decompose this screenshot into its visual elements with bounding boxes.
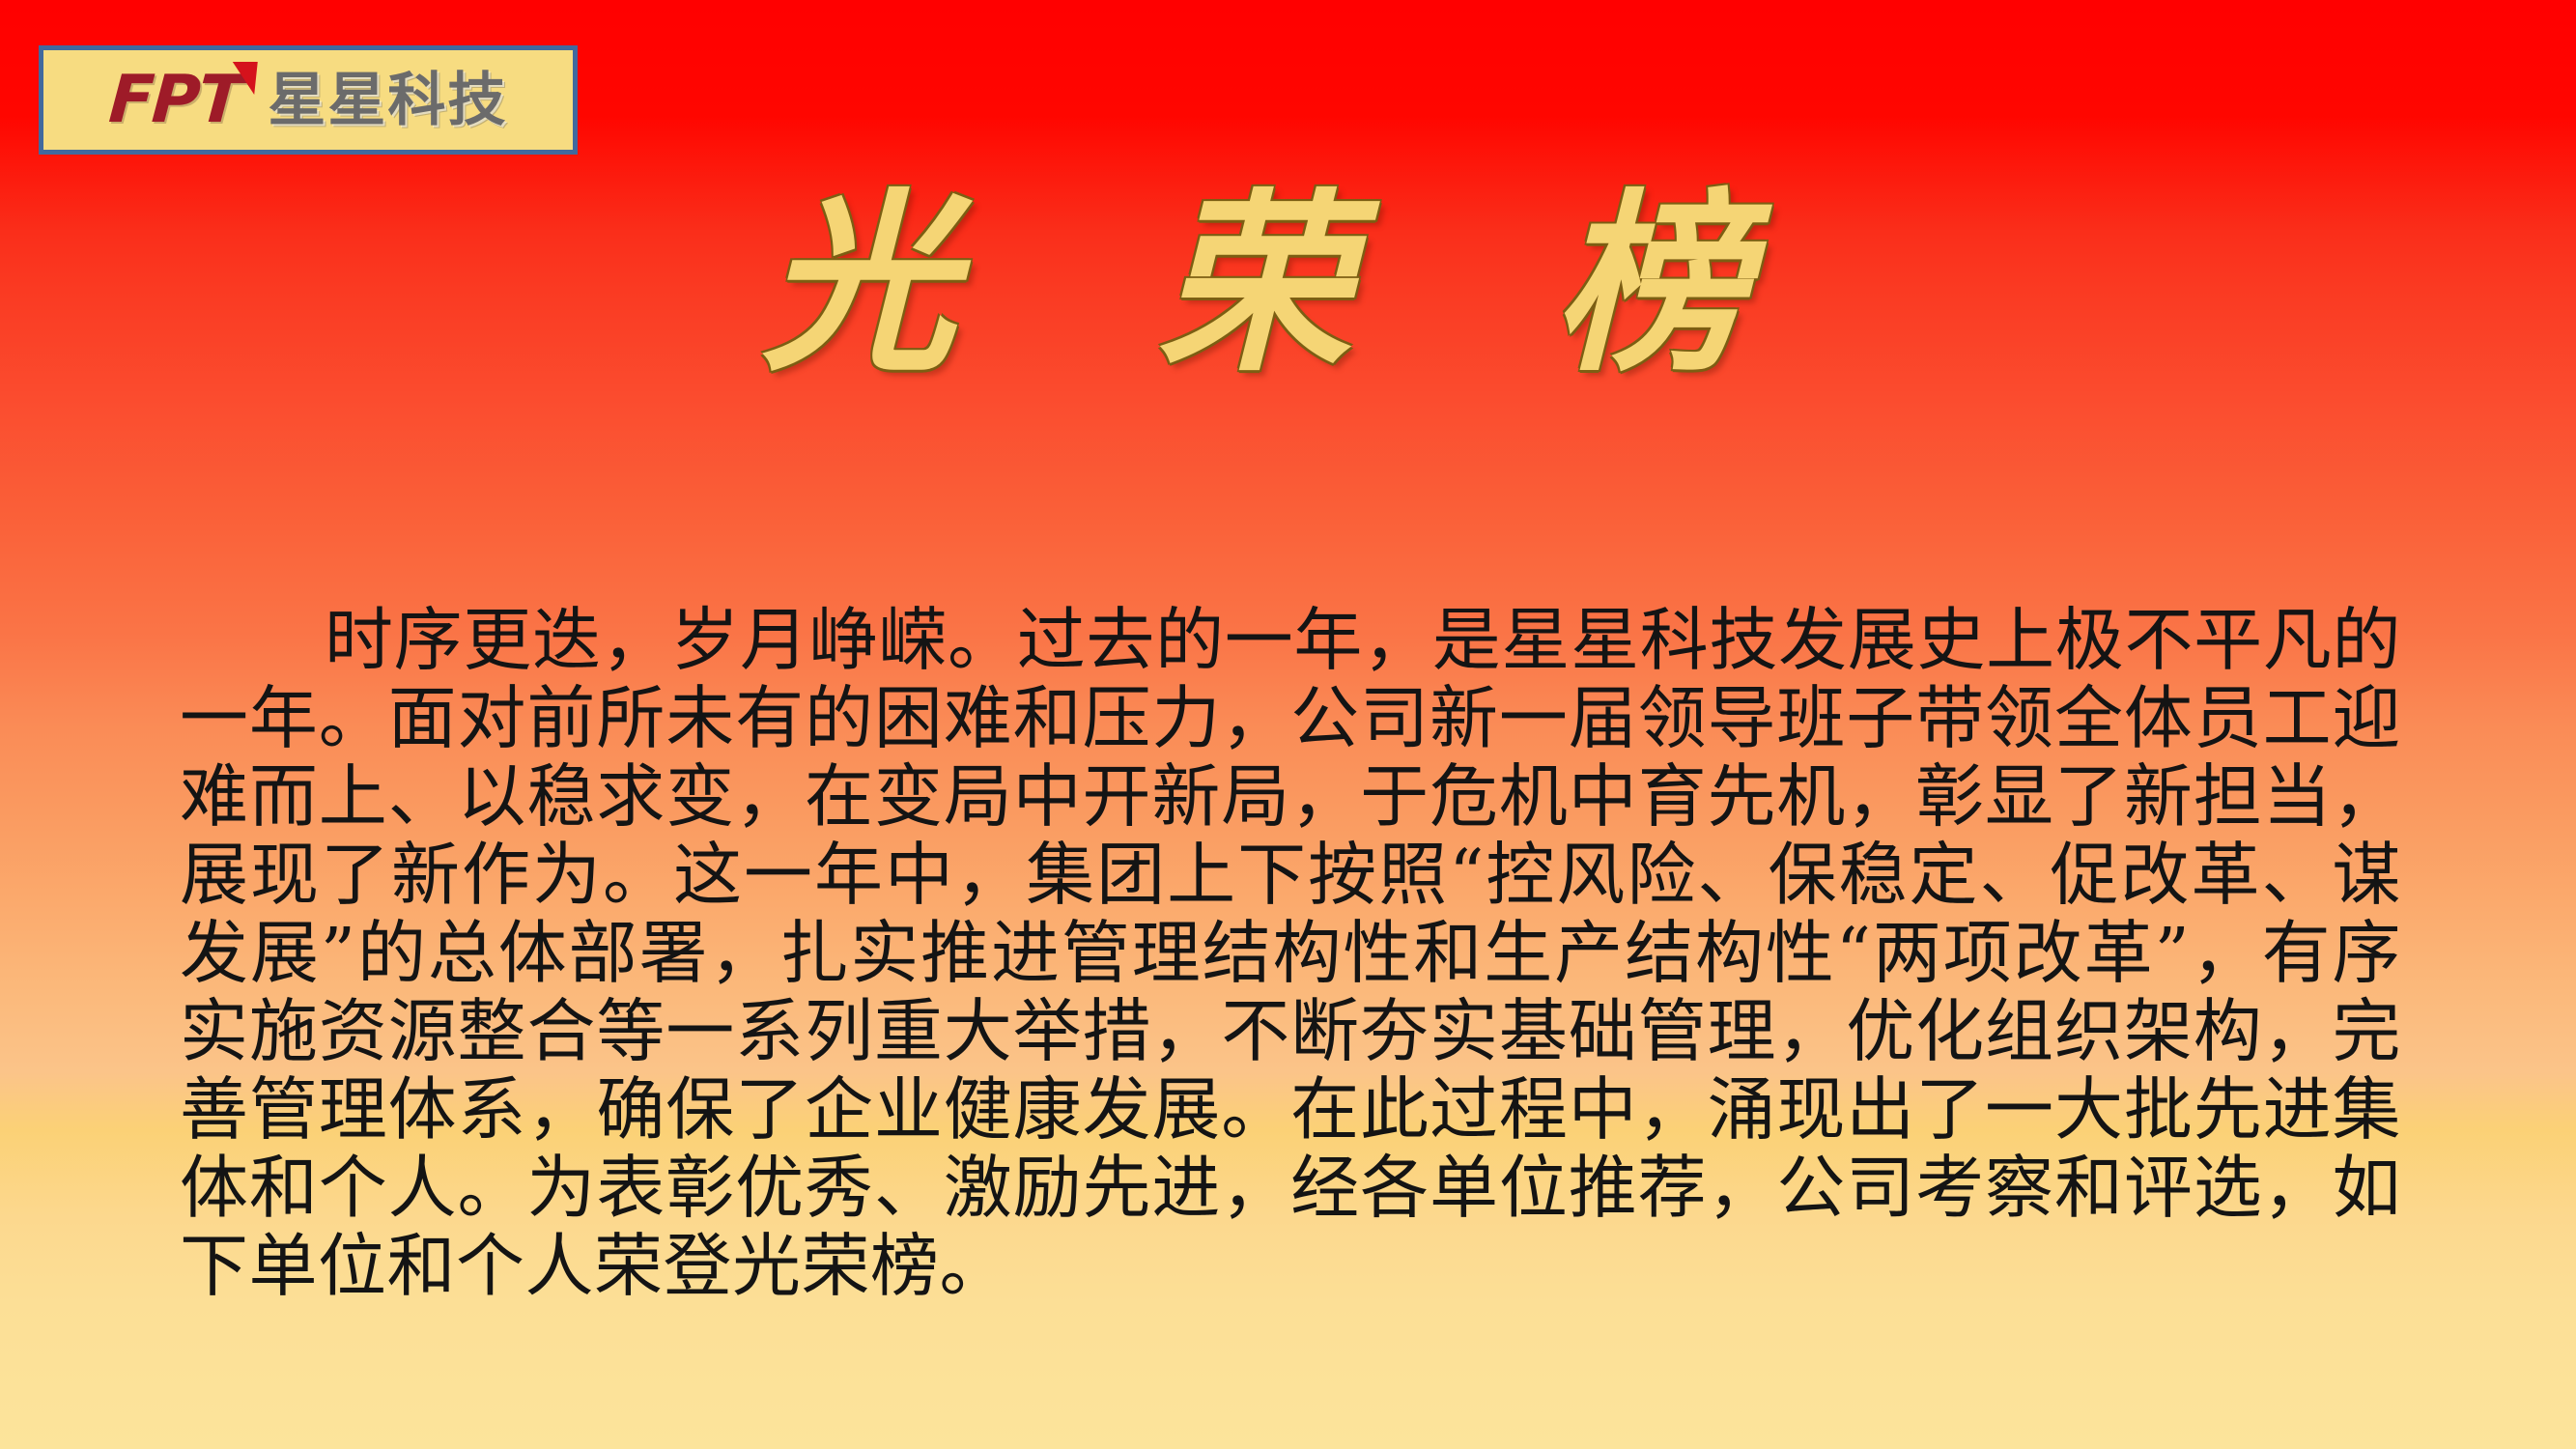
fpt-wordmark-text: FPT bbox=[106, 68, 242, 133]
fpt-tick-icon bbox=[230, 62, 259, 95]
fpt-wordmark: FPT bbox=[109, 68, 255, 133]
honor-roll-slide: FPT 星星科技 光 荣 榜 时序更迭，岁月峥嵘。过去的一年，是星星科技发展史上… bbox=[0, 0, 2576, 1449]
company-logo-badge: FPT 星星科技 bbox=[39, 45, 578, 155]
announcement-paragraph: 时序更迭，岁月峥嵘。过去的一年，是星星科技发展史上极不平凡的一年。面对前所未有的… bbox=[180, 601, 2401, 1305]
company-chinese-name: 星星科技 bbox=[268, 71, 507, 129]
page-title: 光 荣 榜 bbox=[0, 179, 2576, 401]
